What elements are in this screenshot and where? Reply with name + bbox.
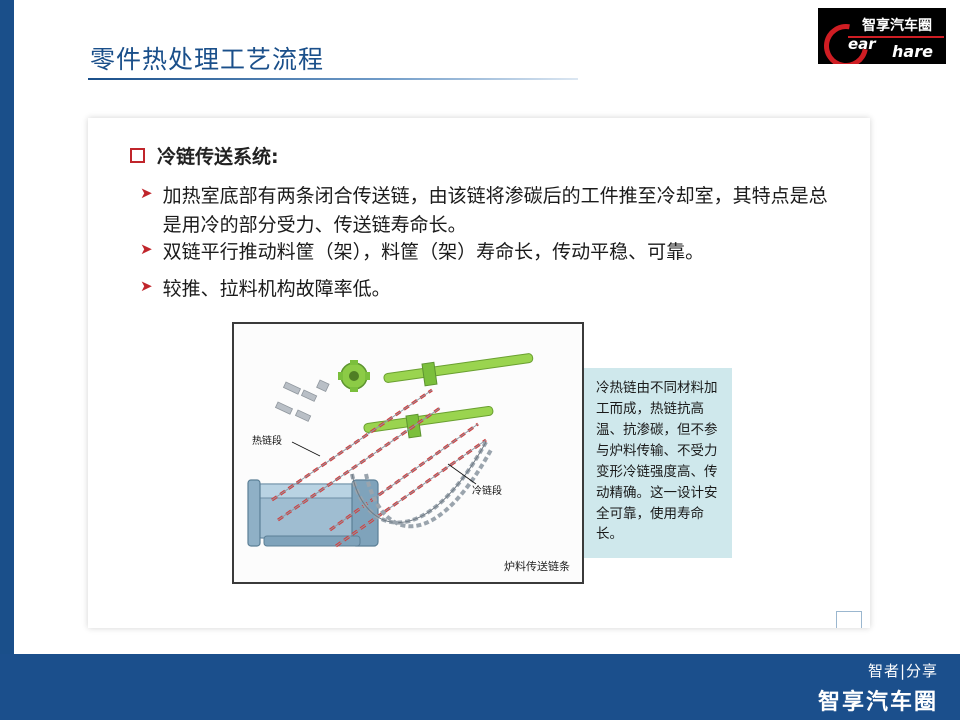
section-heading: 冷链传送系统: (130, 142, 279, 169)
card-corner-mark (836, 611, 862, 628)
slide: 智享汽车圈 ear hare 零件热处理工艺流程 冷链传送系统: ➤ 加热室底部… (0, 0, 960, 720)
arrow-bullet-icon: ➤ (140, 275, 153, 298)
note-text: 冷热链由不同材料加工而成，热链抗高温、抗渗碳，但不参与炉料传输、不受力变形冷链强… (596, 378, 720, 545)
arrow-bullet-icon: ➤ (140, 182, 153, 205)
brand-logo: 智享汽车圈 ear hare (818, 8, 946, 64)
logo-chinese-text: 智享汽车圈 (862, 15, 932, 35)
logo-share-text: hare (892, 42, 933, 61)
left-blue-rail (0, 0, 14, 720)
figure-label-hot: 热链段 (252, 432, 282, 447)
conveyor-chain-figure: 热链段 冷链段 炉料传送链条 (232, 322, 584, 584)
figure-label-cold: 冷链段 (472, 482, 502, 497)
square-bullet-icon (130, 148, 145, 163)
logo-gear-text: ear (848, 35, 876, 53)
section-heading-label: 冷链传送系统: (157, 142, 279, 169)
bullet-item: ➤ 较推、拉料机构故障率低。 (140, 275, 840, 304)
bullet-item: ➤ 双链平行推动料筐（架），料筐（架）寿命长，传动平稳、可靠。 (140, 238, 840, 267)
footer-line-1: 智者|分享 (868, 660, 938, 681)
figure-caption: 炉料传送链条 (504, 558, 570, 574)
page-title: 零件热处理工艺流程 (90, 40, 324, 76)
arrow-bullet-icon: ➤ (140, 238, 153, 261)
bullet-item: ➤ 加热室底部有两条闭合传送链，由该链将渗碳后的工件推至冷却室，其特点是总是用冷… (140, 182, 840, 241)
bullet-text: 加热室底部有两条闭合传送链，由该链将渗碳后的工件推至冷却室，其特点是总是用冷的部… (163, 182, 840, 241)
bullet-text: 双链平行推动料筐（架），料筐（架）寿命长，传动平稳、可靠。 (163, 238, 705, 267)
footer-bar: 智者|分享 智享汽车圈 (0, 654, 960, 720)
conveyor-chain-diagram (234, 324, 582, 582)
left-rail-divider (14, 0, 17, 720)
bullet-text: 较推、拉料机构故障率低。 (163, 275, 391, 304)
title-underline (88, 78, 578, 80)
footer-line-2: 智享汽车圈 (818, 684, 938, 716)
note-box: 冷热链由不同材料加工而成，热链抗高温、抗渗碳，但不参与炉料传输、不受力变形冷链强… (584, 368, 732, 558)
